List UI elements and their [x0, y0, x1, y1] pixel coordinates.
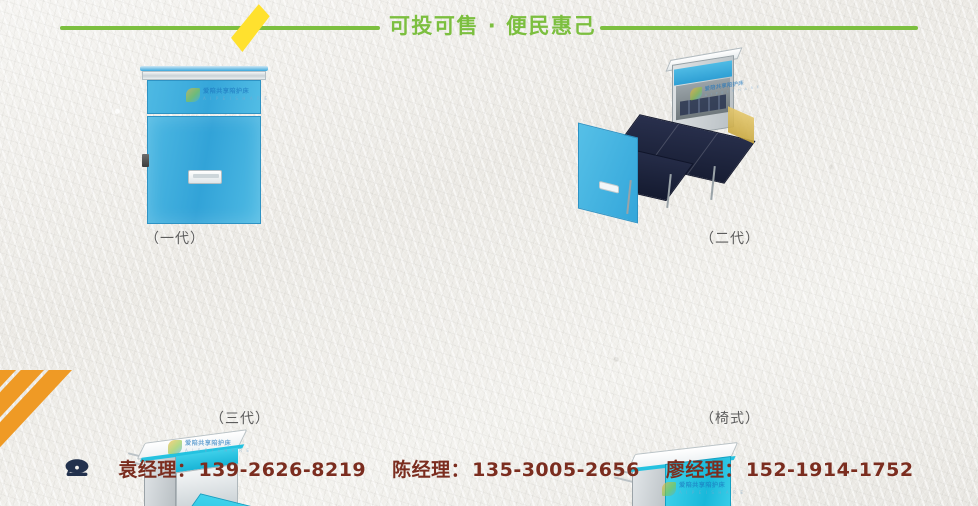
header-rule-left — [60, 26, 380, 30]
contact-list: 袁经理： 139-2626-8219 陈经理： 135-3005-2656 廖经… — [0, 448, 978, 488]
cabinet-upper-panel — [147, 80, 261, 114]
header-banner: 可投可售 · 便民惠己 — [0, 0, 978, 56]
contact-number[interactable]: 152-1914-1752 — [746, 459, 914, 481]
product-chair-unfolded[interactable]: 爱陪共享陪护床 A I P E I S H A R E — [710, 240, 960, 430]
product-gen1-open[interactable]: 爱陪共享陪护床 A I P E I S H A R E — [280, 50, 510, 250]
footer-contact-bar: 袁经理： 139-2626-8219 陈经理： 135-3005-2656 廖经… — [0, 440, 978, 506]
contact-name: 陈经理： — [392, 455, 470, 482]
page-title: 可投可售 · 便民惠己 — [385, 11, 600, 41]
gen1-cabinet-illustration: 爱陪共享陪护床 A I P E I S H A R E — [144, 66, 264, 226]
caption-gen3: （三代） — [180, 408, 300, 428]
product-gallery: 爱陪共享陪护床 A I P E I S H A R E （一代） — [0, 50, 978, 440]
telephone-icon — [64, 458, 90, 478]
door-handle — [188, 170, 222, 184]
contact-number[interactable]: 139-2626-8219 — [198, 459, 366, 481]
contact-item[interactable]: 陈经理： 135-3005-2656 — [392, 455, 640, 482]
contact-number[interactable]: 135-3005-2656 — [472, 459, 640, 481]
header-rule-right — [600, 26, 918, 30]
product-gen1-closed[interactable]: 爱陪共享陪护床 A I P E I S H A R E （一代） — [60, 50, 290, 250]
lock-icon — [142, 154, 149, 167]
product-gen2-open[interactable]: 爱陪共享陪护床 A I P E I S H A R E — [700, 50, 960, 250]
contact-name: 袁经理： — [118, 455, 196, 482]
poster-root: 可投可售 · 便民惠己 爱陪共享陪护床 A I P E I S H A R E — [0, 0, 978, 506]
contact-item[interactable]: 廖经理： 152-1914-1752 — [666, 455, 914, 482]
contact-name: 廖经理： — [666, 455, 744, 482]
product-gen3-closed[interactable]: 爱陪共享陪护床 A I P E I S H A R E — [300, 240, 490, 430]
cabinet-rail — [142, 71, 266, 80]
contact-item[interactable]: 袁经理： 139-2626-8219 — [118, 455, 366, 482]
